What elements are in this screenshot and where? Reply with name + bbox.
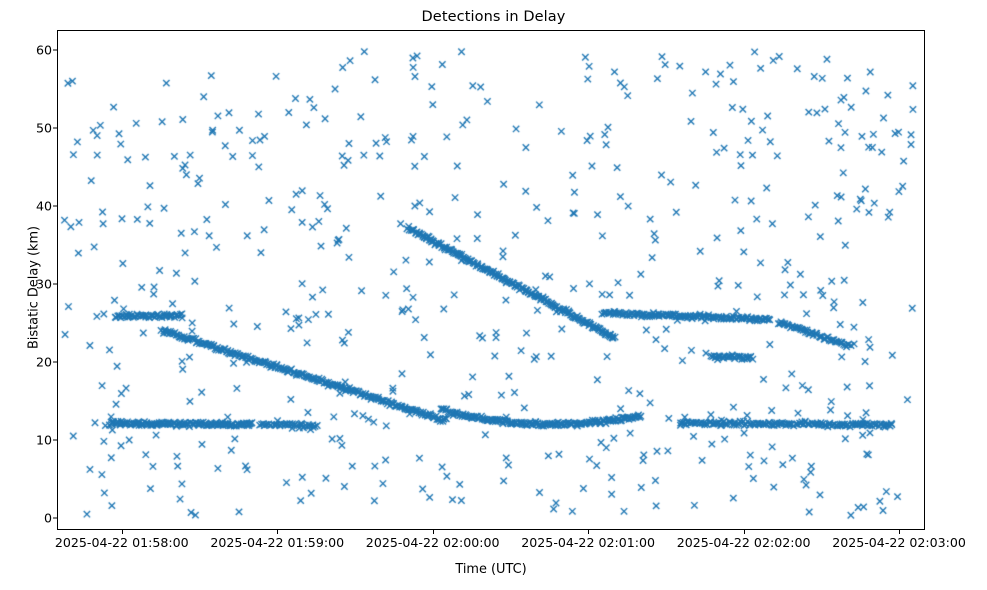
x-tick-label: 2025-04-22 01:59:00: [210, 535, 344, 550]
x-tick-label: 2025-04-22 02:00:00: [366, 535, 500, 550]
x-tick-label: 2025-04-22 02:02:00: [677, 535, 811, 550]
y-axis-label: Bistatic Delay (km): [27, 138, 42, 438]
x-tick-label: 2025-04-22 02:03:00: [832, 535, 966, 550]
y-tick-mark: [53, 362, 57, 363]
y-tick-mark: [53, 127, 57, 128]
x-tick-mark: [433, 530, 434, 534]
scatter-plot-canvas: [58, 31, 925, 530]
plot-axes: [57, 30, 925, 530]
x-tick-mark: [277, 530, 278, 534]
y-tick-label: 0: [0, 511, 52, 526]
y-tick-mark: [53, 440, 57, 441]
x-tick-label: 2025-04-22 01:58:00: [55, 535, 189, 550]
x-axis-label: Time (UTC): [57, 562, 925, 577]
matplotlib-figure: Detections in Delay 0102030405060 2025-0…: [0, 0, 987, 590]
x-tick-mark: [122, 530, 123, 534]
y-tick-mark: [53, 205, 57, 206]
y-tick-mark: [53, 49, 57, 50]
x-tick-label: 2025-04-22 02:01:00: [521, 535, 655, 550]
chart-title: Detections in Delay: [0, 9, 987, 25]
x-tick-mark: [588, 530, 589, 534]
y-tick-label: 60: [0, 42, 52, 57]
y-tick-mark: [53, 518, 57, 519]
y-tick-mark: [53, 283, 57, 284]
y-tick-label: 50: [0, 120, 52, 135]
x-tick-mark: [899, 530, 900, 534]
x-tick-mark: [744, 530, 745, 534]
